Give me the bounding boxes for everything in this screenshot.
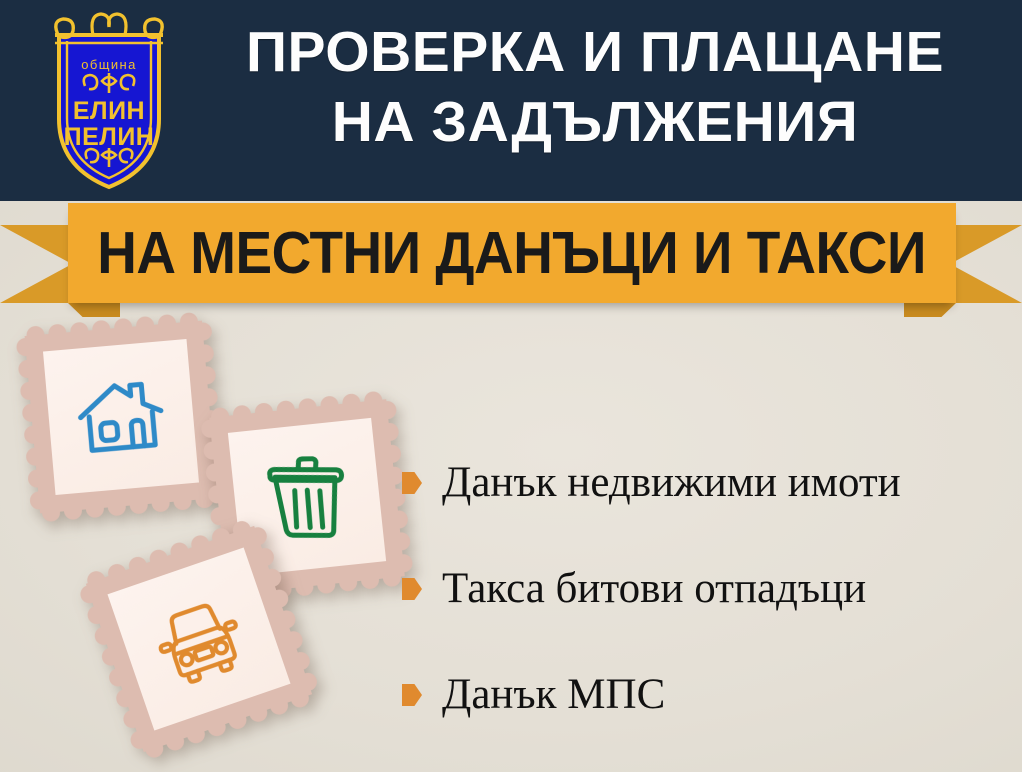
car-front-icon [138, 578, 260, 700]
ribbon-banner: НА МЕСТНИ ДАНЪЦИ И ТАКСИ [68, 203, 956, 303]
stamp-card-property [14, 310, 229, 525]
ribbon-fold-right-shadow [904, 303, 956, 317]
ribbon-label: НА МЕСТНИ ДАНЪЦИ И ТАКСИ [98, 224, 927, 283]
page-title: ПРОВЕРКА И ПЛАЩАНЕ НА ЗАДЪЛЖЕНИЯ [190, 17, 1000, 157]
header-bar: община ЕЛИН ПЕЛИН [0, 0, 1022, 201]
list-item[interactable]: Такса битови отпадъци [402, 536, 1012, 642]
list-item[interactable]: Данък недвижими имоти [402, 430, 1012, 536]
bullet-arrow-icon [402, 578, 422, 600]
bullet-arrow-icon [402, 472, 422, 494]
tax-type-list: Данък недвижими имоти Такса битови отпад… [402, 430, 1012, 748]
crest-top-word: община [81, 57, 136, 72]
house-icon [69, 365, 173, 469]
page-title-line-1: ПРОВЕРКА И ПЛАЩАНЕ [190, 17, 1000, 87]
coat-of-arms: община ЕЛИН ПЕЛИН [33, 7, 185, 191]
list-item-label: Данък недвижими имоти [442, 460, 901, 505]
list-item[interactable]: Данък МПС [402, 642, 1012, 748]
crest-name-line2: ПЕЛИН [64, 123, 155, 151]
crest-name-line1: ЕЛИН [73, 97, 145, 125]
trash-can-icon [254, 444, 360, 550]
ribbon-fold-left-shadow [68, 303, 120, 317]
list-item-label: Данък МПС [442, 672, 665, 717]
stamp-inner-property [43, 339, 199, 495]
subtitle-ribbon: НА МЕСТНИ ДАНЪЦИ И ТАКСИ [0, 203, 1022, 303]
list-item-label: Такса битови отпадъци [442, 566, 866, 611]
page-title-line-2: НА ЗАДЪЛЖЕНИЯ [190, 87, 1000, 157]
bullet-arrow-icon [402, 684, 422, 706]
poster-canvas: община ЕЛИН ПЕЛИН [0, 0, 1022, 772]
